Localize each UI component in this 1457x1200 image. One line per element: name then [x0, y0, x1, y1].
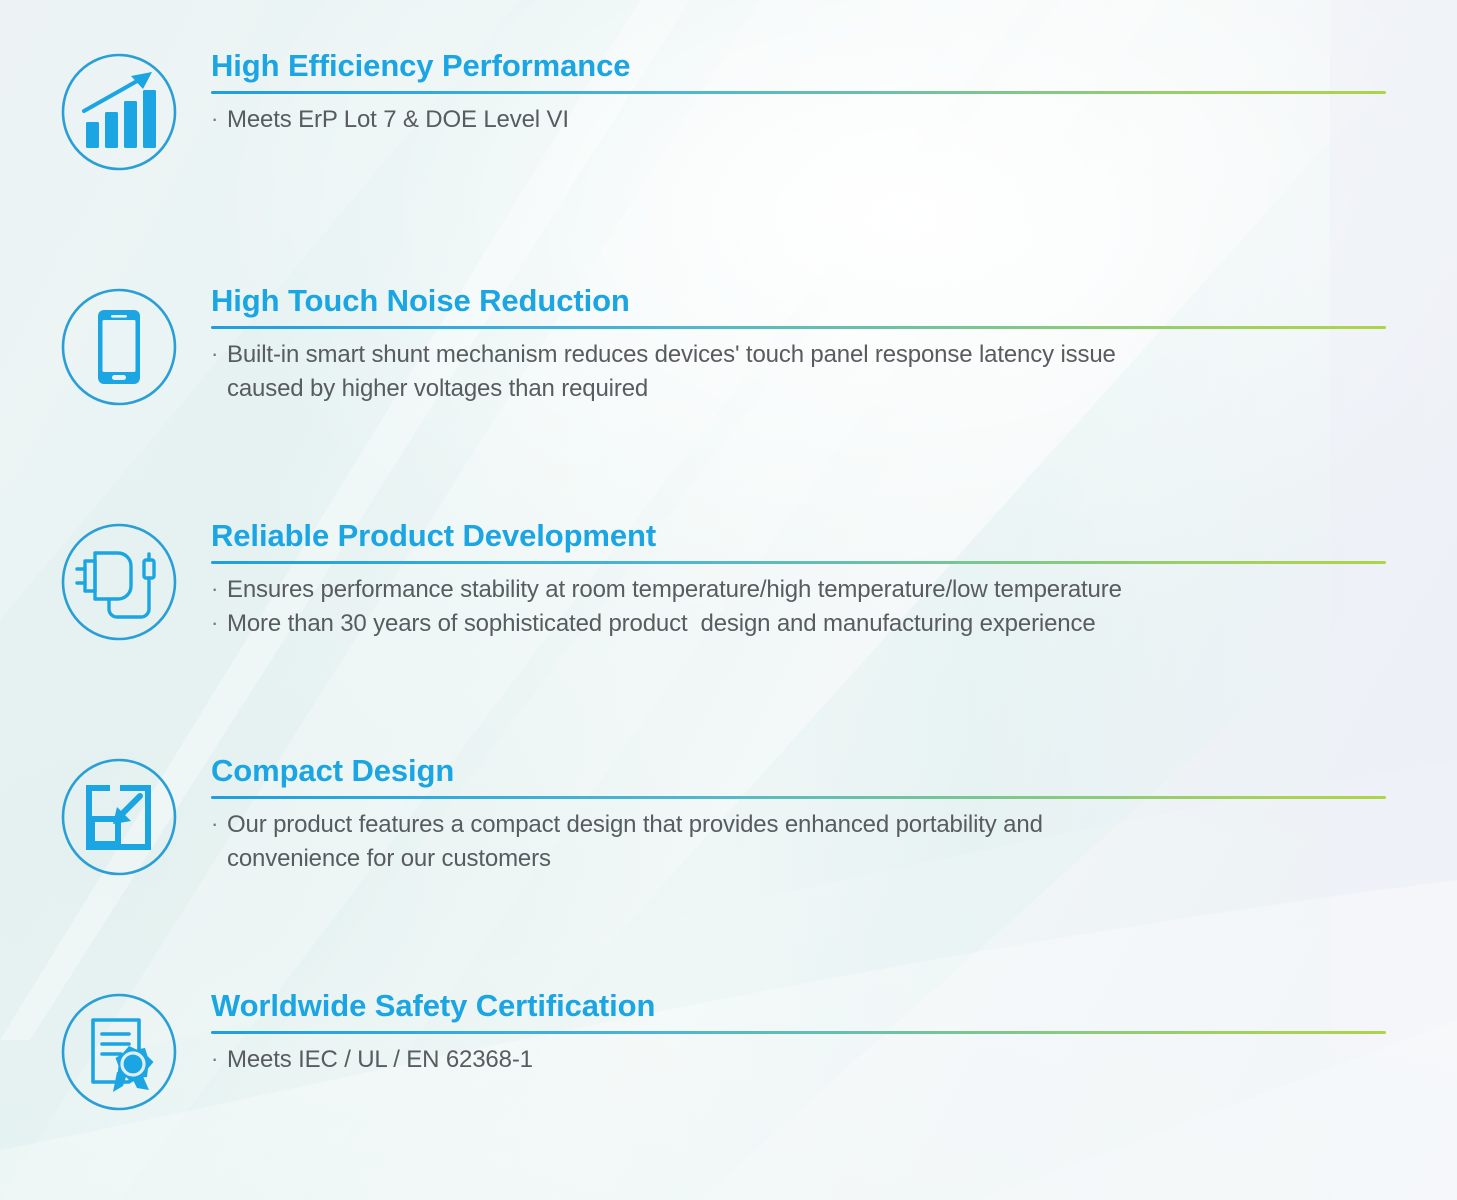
bullet-item: · Our product features a compact design … — [211, 808, 1428, 876]
feature-icon-container — [55, 753, 183, 879]
bullet-item: · Meets ErP Lot 7 & DOE Level VI — [211, 103, 1428, 137]
feature-icon-container — [55, 283, 183, 409]
feature-divider-rule — [211, 91, 1386, 94]
feature-icon-container — [55, 988, 183, 1114]
certificate-award-icon — [57, 990, 181, 1114]
feature-bullet-list: · Built-in smart shunt mechanism reduces… — [211, 338, 1428, 406]
bar-chart-growth-icon — [57, 50, 181, 174]
feature-item-compact-design: Compact Design · Our product features a … — [55, 753, 1428, 879]
feature-text-block: Worldwide Safety Certification · Meets I… — [183, 988, 1428, 1077]
bullet-item: · Ensures performance stability at room … — [211, 573, 1428, 607]
feature-divider-rule — [211, 561, 1386, 564]
feature-text-block: High Efficiency Performance · Meets ErP … — [183, 48, 1428, 137]
bullet-item: · More than 30 years of sophisticated pr… — [211, 607, 1428, 641]
feature-item-high-touch-noise-reduction: High Touch Noise Reduction · Built-in sm… — [55, 283, 1428, 409]
feature-item-reliable-product-development: Reliable Product Development · Ensures p… — [55, 518, 1428, 644]
feature-bullet-list: · Meets IEC / UL / EN 62368-1 — [211, 1043, 1428, 1077]
bullet-text: Ensures performance stability at room te… — [227, 573, 1428, 607]
bullet-marker: · — [211, 103, 227, 137]
power-adapter-icon — [57, 520, 181, 644]
bullet-text: Meets IEC / UL / EN 62368-1 — [227, 1043, 1428, 1077]
feature-divider-rule — [211, 1031, 1386, 1034]
feature-text-block: High Touch Noise Reduction · Built-in sm… — [183, 283, 1428, 406]
feature-item-worldwide-safety-certification: Worldwide Safety Certification · Meets I… — [55, 988, 1428, 1114]
bullet-text: Meets ErP Lot 7 & DOE Level VI — [227, 103, 1428, 137]
feature-text-block: Compact Design · Our product features a … — [183, 753, 1428, 876]
feature-bullet-list: · Our product features a compact design … — [211, 808, 1428, 876]
feature-bullet-list: · Ensures performance stability at room … — [211, 573, 1428, 641]
feature-title: High Touch Noise Reduction — [211, 283, 1428, 319]
feature-icon-container — [55, 48, 183, 174]
feature-bullet-list: · Meets ErP Lot 7 & DOE Level VI — [211, 103, 1428, 137]
feature-list-page: High Efficiency Performance · Meets ErP … — [0, 0, 1457, 1200]
bullet-marker: · — [211, 607, 227, 641]
bullet-text: More than 30 years of sophisticated prod… — [227, 607, 1428, 641]
bullet-marker: · — [211, 573, 227, 607]
feature-title: Compact Design — [211, 753, 1428, 789]
feature-item-high-efficiency-performance: High Efficiency Performance · Meets ErP … — [55, 48, 1428, 174]
bullet-text: Our product features a compact design th… — [227, 808, 1428, 876]
feature-title: Worldwide Safety Certification — [211, 988, 1428, 1024]
bullet-item: · Built-in smart shunt mechanism reduces… — [211, 338, 1428, 406]
bullet-marker: · — [211, 1043, 227, 1077]
feature-divider-rule — [211, 326, 1386, 329]
bullet-marker: · — [211, 808, 227, 876]
feature-title: High Efficiency Performance — [211, 48, 1428, 84]
feature-title: Reliable Product Development — [211, 518, 1428, 554]
feature-divider-rule — [211, 796, 1386, 799]
feature-text-block: Reliable Product Development · Ensures p… — [183, 518, 1428, 641]
bullet-marker: · — [211, 338, 227, 406]
bullet-text: Built-in smart shunt mechanism reduces d… — [227, 338, 1428, 406]
feature-icon-container — [55, 518, 183, 644]
bullet-item: · Meets IEC / UL / EN 62368-1 — [211, 1043, 1428, 1077]
smartphone-icon — [57, 285, 181, 409]
compact-resize-icon — [57, 755, 181, 879]
